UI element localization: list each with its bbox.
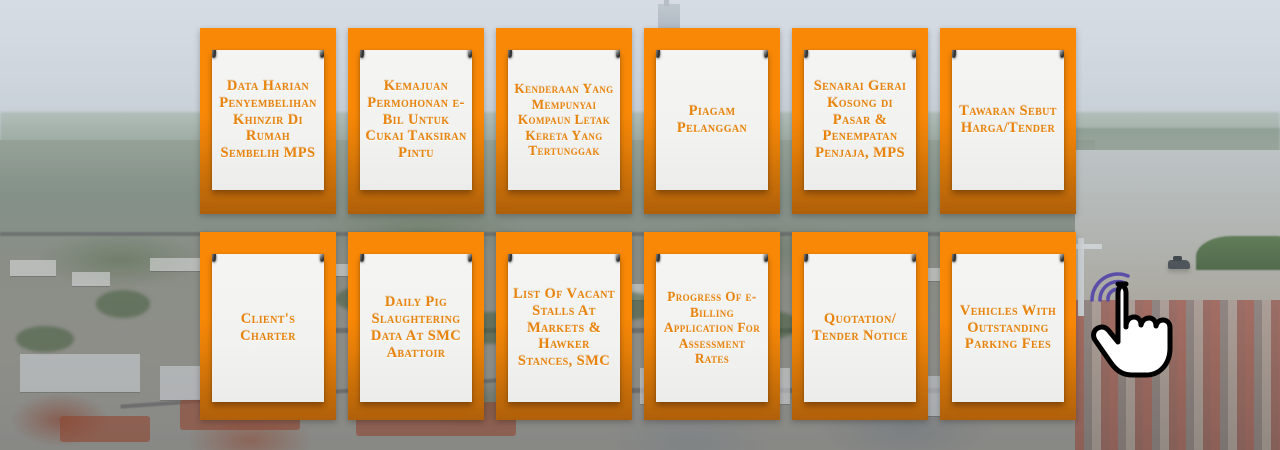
tile-daily-pig-slaughtering-data[interactable]: Daily Pig Slaughtering Data At SMC Abatt… [348, 232, 484, 420]
paper-sheet: Data Harian Penyembelihan Khinzir Di Rum… [212, 50, 324, 190]
tile-progress-of-ebilling-application[interactable]: Progress Of e-Billing Application For As… [644, 232, 780, 420]
binder-clip-icon [614, 254, 620, 263]
binder-clip-icon [318, 254, 324, 263]
tile-label: Vehicles With Outstanding Parking Fees [952, 303, 1064, 354]
paper-sheet: Quotation/ Tender Notice [804, 254, 916, 402]
binder-clip-icon [1058, 254, 1064, 263]
tile-list-of-vacant-stalls[interactable]: List Of Vacant Stalls At Markets & Hawke… [496, 232, 632, 420]
tile-row-top: Data Harian Penyembelihan Khinzir Di Rum… [200, 28, 1080, 214]
tile-quotation-tender-notice[interactable]: Quotation/ Tender Notice [792, 232, 928, 420]
binder-clip-icon [466, 254, 472, 263]
binder-clip-icon [1058, 50, 1064, 59]
tile-label: Daily Pig Slaughtering Data At SMC Abatt… [360, 294, 472, 362]
tile-kenderaan-kompaun-letak-kereta[interactable]: Kenderaan Yang Mempunyai Kompaun Letak K… [496, 28, 632, 214]
binder-clip-icon [318, 50, 324, 59]
tile-label: Kemajuan Permohonan e-Bil Untuk Cukai Ta… [360, 78, 472, 163]
tile-label: Piagam Pelanggan [656, 103, 768, 137]
tile-grid: Data Harian Penyembelihan Khinzir Di Rum… [200, 28, 1080, 420]
tile-kemajuan-permohonan-ebil[interactable]: Kemajuan Permohonan e-Bil Untuk Cukai Ta… [348, 28, 484, 214]
paper-sheet: Daily Pig Slaughtering Data At SMC Abatt… [360, 254, 472, 402]
binder-clip-icon [508, 254, 514, 263]
paper-sheet: Piagam Pelanggan [656, 50, 768, 190]
paper-sheet: List Of Vacant Stalls At Markets & Hawke… [508, 254, 620, 402]
paper-sheet: Vehicles With Outstanding Parking Fees [952, 254, 1064, 402]
tile-row-bottom: Client's Charter Daily Pig Slaughtering … [200, 232, 1080, 420]
tile-data-harian-penyembelihan[interactable]: Data Harian Penyembelihan Khinzir Di Rum… [200, 28, 336, 214]
screen: Data Harian Penyembelihan Khinzir Di Rum… [0, 0, 1280, 450]
binder-clip-icon [804, 50, 810, 59]
tile-piagam-pelanggan[interactable]: Piagam Pelanggan [644, 28, 780, 214]
tile-vehicles-with-outstanding-parking-fees[interactable]: Vehicles With Outstanding Parking Fees [940, 232, 1076, 420]
paper-sheet: Kenderaan Yang Mempunyai Kompaun Letak K… [508, 50, 620, 190]
binder-clip-icon [952, 254, 958, 263]
binder-clip-icon [952, 50, 958, 59]
binder-clip-icon [212, 254, 218, 263]
tile-senarai-gerai-kosong[interactable]: Senarai Gerai Kosong di Pasar & Penempat… [792, 28, 928, 214]
paper-sheet: Tawaran Sebut Harga/Tender [952, 50, 1064, 190]
boat [1168, 260, 1190, 269]
binder-clip-icon [360, 50, 366, 59]
tile-clients-charter[interactable]: Client's Charter [200, 232, 336, 420]
tile-label: Progress Of e-Billing Application For As… [656, 289, 768, 366]
binder-clip-icon [466, 50, 472, 59]
paper-sheet: Kemajuan Permohonan e-Bil Untuk Cukai Ta… [360, 50, 472, 190]
binder-clip-icon [910, 254, 916, 263]
binder-clip-icon [614, 50, 620, 59]
tile-tawaran-sebut-harga-tender[interactable]: Tawaran Sebut Harga/Tender [940, 28, 1076, 214]
tile-label: Kenderaan Yang Mempunyai Kompaun Letak K… [508, 81, 620, 158]
binder-clip-icon [910, 50, 916, 59]
binder-clip-icon [804, 254, 810, 263]
tile-label: Tawaran Sebut Harga/Tender [952, 103, 1064, 137]
tile-label: Client's Charter [212, 311, 324, 345]
container-yard [1075, 300, 1280, 450]
binder-clip-icon [762, 254, 768, 263]
binder-clip-icon [360, 254, 366, 263]
tile-label: Quotation/ Tender Notice [804, 311, 916, 345]
paper-sheet: Senarai Gerai Kosong di Pasar & Penempat… [804, 50, 916, 190]
binder-clip-icon [656, 254, 662, 263]
binder-clip-icon [212, 50, 218, 59]
tile-label: List Of Vacant Stalls At Markets & Hawke… [508, 286, 620, 371]
paper-sheet: Client's Charter [212, 254, 324, 402]
binder-clip-icon [508, 50, 514, 59]
tile-label: Data Harian Penyembelihan Khinzir Di Rum… [212, 78, 324, 163]
paper-sheet: Progress Of e-Billing Application For As… [656, 254, 768, 402]
headland [1196, 236, 1280, 270]
binder-clip-icon [656, 50, 662, 59]
tile-label: Senarai Gerai Kosong di Pasar & Penempat… [804, 78, 916, 163]
binder-clip-icon [762, 50, 768, 59]
